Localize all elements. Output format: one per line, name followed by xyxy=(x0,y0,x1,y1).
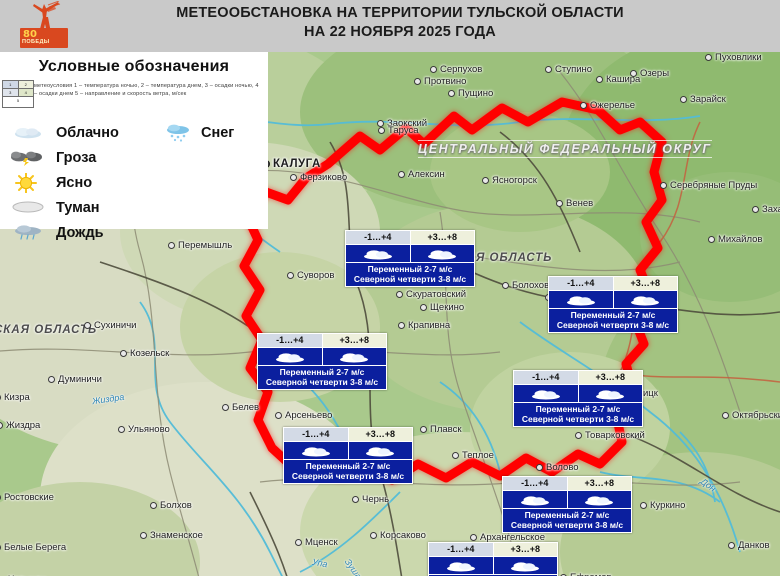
snow-icon xyxy=(163,123,197,143)
city-label: Думиничи xyxy=(48,374,102,385)
city-label: Данков xyxy=(728,540,770,551)
city-label: Волово xyxy=(536,462,579,473)
city-label: Сухиничи xyxy=(84,320,136,331)
city-marker-icon xyxy=(556,200,563,207)
city-marker-icon xyxy=(596,76,603,83)
wind-line-1: Переменный 2-7 м/с xyxy=(258,367,386,377)
federal-okrug-label: ЦЕНТРАЛЬНЫЙ ФЕДЕРАЛЬНЫЙ ОКРУГ xyxy=(418,140,712,158)
cloudy-icon xyxy=(626,293,664,306)
city-name: Венев xyxy=(566,198,593,209)
city-marker-icon xyxy=(295,539,302,546)
cloudy-icon xyxy=(335,350,373,363)
day-temperature: +3…+8 xyxy=(614,277,678,290)
oblast-label-kaluga: СКАЯ ОБЛАСТЬ xyxy=(0,324,97,336)
city-marker-icon xyxy=(752,206,759,213)
temperature-row: -1…+4+3…+8 xyxy=(549,277,677,290)
legend-mini-table: 1 2 3 4 5 xyxy=(2,80,34,108)
wind-line-2: Северной четверти 3-8 м/с xyxy=(503,520,631,530)
wind-info: Переменный 2-7 м/сСеверной четверти 3-8 … xyxy=(503,509,631,532)
city-marker-icon xyxy=(414,78,421,85)
city-marker-icon xyxy=(0,544,1,551)
city-label: Пуховлики xyxy=(705,52,762,63)
city-label: Крапивна xyxy=(398,320,450,331)
temperature-row: -1…+4+3…+8 xyxy=(429,543,557,556)
precipitation-row xyxy=(284,441,412,460)
city-name: Скуратовский xyxy=(406,289,466,300)
city-label: КАЛУГА xyxy=(262,158,321,170)
cloudy-icon xyxy=(527,387,565,400)
mini-cell-5: 5 xyxy=(3,97,33,104)
wind-line-2: Северной четверти 3-8 м/с xyxy=(284,471,412,481)
city-marker-icon xyxy=(708,236,715,243)
night-temperature: -1…+4 xyxy=(284,428,349,441)
legend-title: Условные обозначения xyxy=(0,58,268,76)
city-name: Серпухов xyxy=(440,64,482,75)
cloudy-icon xyxy=(271,350,309,363)
city-marker-icon xyxy=(680,96,687,103)
city-label: Таруса xyxy=(378,125,419,136)
page-title: МЕТЕООБСТАНОВКА НА ТЕРРИТОРИИ ТУЛЬСКОЙ О… xyxy=(120,4,680,42)
city-name: Ульяново xyxy=(128,424,170,435)
city-name: Корсаково xyxy=(380,530,426,541)
city-name: Белые Берега xyxy=(4,542,66,553)
thunderstorm-icon xyxy=(8,148,52,168)
city-marker-icon xyxy=(420,426,427,433)
night-precipitation-cell xyxy=(549,291,613,308)
wind-info: Переменный 2-7 м/сСеверной четверти 3-8 … xyxy=(284,460,412,483)
city-name: Данков xyxy=(738,540,770,551)
city-marker-icon xyxy=(630,70,637,77)
city-marker-icon xyxy=(482,177,489,184)
cloudy-icon xyxy=(442,559,480,572)
city-marker-icon xyxy=(398,322,405,329)
page-header: 80 ПОБЕДЫ МЕТЕООБСТАНОВКА НА ТЕРРИТОРИИ … xyxy=(0,0,780,52)
day-temperature: +3…+8 xyxy=(494,543,558,556)
city-name: Плавск xyxy=(430,424,462,435)
city-name: Пуховлики xyxy=(715,52,762,63)
page-title-line2: НА 22 НОЯБРЯ 2025 ГОДА xyxy=(120,23,680,42)
temperature-row: -1…+4+3…+8 xyxy=(284,428,412,441)
city-marker-icon xyxy=(84,322,91,329)
city-name: Озеры xyxy=(640,68,669,79)
wind-info: Переменный 2-7 м/сСеверной четверти 3-8 … xyxy=(549,309,677,332)
mini-cell-2: 2 xyxy=(19,81,34,89)
wind-info: Переменный 2-7 м/сСеверной четверти 3-8 … xyxy=(346,263,474,286)
legend-item-sunny: Ясно xyxy=(8,172,92,194)
cloudy-icon xyxy=(580,493,618,506)
city-name: Кизра xyxy=(4,392,30,403)
city-label: Захарово xyxy=(752,204,780,215)
legend-item-fog: Туман xyxy=(8,197,100,219)
day-precipitation-cell xyxy=(567,491,632,508)
city-marker-icon xyxy=(370,532,377,539)
page-title-line1: МЕТЕООБСТАНОВКА НА ТЕРРИТОРИИ ТУЛЬСКОЙ О… xyxy=(176,5,624,21)
day-temperature: +3…+8 xyxy=(568,477,632,490)
city-name: Товарковский xyxy=(585,430,645,441)
city-marker-icon xyxy=(222,404,229,411)
legend-item-thunderstorm: Гроза xyxy=(8,147,96,169)
day-temperature: +3…+8 xyxy=(323,334,387,347)
night-temperature: -1…+4 xyxy=(514,371,579,384)
city-label: Перемышль xyxy=(168,240,232,251)
wind-line-2: Северной четверти 3-8 м/с xyxy=(514,414,642,424)
city-name: Козельск xyxy=(130,348,169,359)
wind-line-1: Переменный 2-7 м/с xyxy=(503,510,631,520)
city-label: Озеры xyxy=(630,68,669,79)
city-label: Зарайск xyxy=(680,94,726,105)
precipitation-row xyxy=(429,556,557,575)
city-marker-icon xyxy=(378,127,385,134)
city-name: Чернь xyxy=(362,494,389,505)
city-marker-icon xyxy=(0,394,1,401)
city-label: Октябрьский xyxy=(722,410,780,421)
city-marker-icon xyxy=(396,291,403,298)
cloudy-icon xyxy=(562,293,600,306)
precipitation-row xyxy=(258,347,386,366)
day-precipitation-cell xyxy=(322,348,387,365)
precipitation-row xyxy=(514,384,642,403)
legend-label-cloudy: Облачно xyxy=(56,125,119,141)
city-name: Мценск xyxy=(305,537,338,548)
victory-anniversary-logo: 80 ПОБЕДЫ xyxy=(16,1,76,51)
city-name: Протвино xyxy=(424,76,466,87)
wind-line-1: Переменный 2-7 м/с xyxy=(514,404,642,414)
mini-cell-1: 1 xyxy=(3,81,19,89)
city-label: Ефремов xyxy=(560,572,612,576)
city-label: Михайлов xyxy=(708,234,762,245)
weather-box[interactable]: -1…+4+3…+8Переменный 2-7 м/сСеверной чет… xyxy=(513,370,643,427)
legend-item-cloudy: Облачно xyxy=(8,122,119,144)
cloudy-icon xyxy=(8,123,52,143)
city-label: Кизра xyxy=(0,392,30,403)
night-temperature: -1…+4 xyxy=(503,477,568,490)
night-precipitation-cell xyxy=(284,442,348,459)
city-name: Михайлов xyxy=(718,234,762,245)
temperature-row: -1…+4+3…+8 xyxy=(346,231,474,244)
city-marker-icon xyxy=(705,54,712,61)
day-temperature: +3…+8 xyxy=(349,428,413,441)
wind-line-1: Переменный 2-7 м/с xyxy=(346,264,474,274)
legend-label-thunderstorm: Гроза xyxy=(56,150,96,166)
night-precipitation-cell xyxy=(503,491,567,508)
wind-line-2: Северной четверти 3-8 м/с xyxy=(258,377,386,387)
city-name: Пущино xyxy=(458,88,493,99)
city-name: Перемышль xyxy=(178,240,232,251)
legend-label-rain: Дождь xyxy=(56,225,104,241)
city-label: Товарковский xyxy=(575,430,645,441)
city-label: Ростовские xyxy=(0,492,54,503)
city-marker-icon xyxy=(120,350,127,357)
city-label: Ферзиково xyxy=(290,172,347,183)
weather-box[interactable]: -1…+4+3…+8Переменный 2-7 м/сСеверной чет… xyxy=(548,276,678,333)
city-label: Болхов xyxy=(150,500,192,511)
cloudy-icon xyxy=(297,444,335,457)
city-marker-icon xyxy=(420,304,427,311)
precipitation-row xyxy=(346,244,474,263)
city-label: Арсеньево xyxy=(275,410,332,421)
precipitation-row xyxy=(503,490,631,509)
city-label: Ожерелье xyxy=(580,100,635,111)
city-name: Зарайск xyxy=(690,94,726,105)
weather-box[interactable]: -1…+4+3…+8Переменный 2-7 м/сСеверной чет… xyxy=(345,230,475,287)
city-marker-icon xyxy=(0,422,3,429)
mini-cell-3: 3 xyxy=(3,89,19,97)
city-marker-icon xyxy=(168,242,175,249)
city-label: Алексин xyxy=(398,169,445,180)
city-marker-icon xyxy=(545,66,552,73)
wind-line-1: Переменный 2-7 м/с xyxy=(284,461,412,471)
precipitation-row xyxy=(549,290,677,309)
temperature-row: -1…+4+3…+8 xyxy=(258,334,386,347)
city-name: Захарово xyxy=(762,204,780,215)
city-label: Козельск xyxy=(120,348,169,359)
cloudy-icon xyxy=(423,247,461,260)
legend-item-rain: Дождь xyxy=(8,222,104,244)
city-name: Ступино xyxy=(555,64,592,75)
city-label: Ступино xyxy=(545,64,592,75)
temperature-row: -1…+4+3…+8 xyxy=(514,371,642,384)
wind-line-1: Переменный 2-7 м/с xyxy=(549,310,677,320)
city-label: Венев xyxy=(556,198,593,209)
wind-info: Переменный 2-7 м/сСеверной четверти 3-8 … xyxy=(258,366,386,389)
day-precipitation-cell xyxy=(578,385,643,402)
night-temperature: -1…+4 xyxy=(346,231,411,244)
rain-icon xyxy=(8,223,52,243)
night-precipitation-cell xyxy=(429,557,493,574)
legend-item-snow: Снег xyxy=(163,122,234,144)
wind-line-2: Северной четверти 3-8 м/с xyxy=(346,274,474,284)
day-precipitation-cell xyxy=(493,557,558,574)
city-name: Алексин xyxy=(408,169,445,180)
city-marker-icon xyxy=(290,174,297,181)
city-label: Плавск xyxy=(420,424,462,435)
wind-info: Переменный 2-7 м/сСеверной четверти 3-8 … xyxy=(514,403,642,426)
weather-box[interactable]: -1…+4+3…+8Переменный 2-7 м/сСеверной чет… xyxy=(283,427,413,484)
city-label: Чернь xyxy=(352,494,389,505)
day-temperature: +3…+8 xyxy=(411,231,475,244)
city-name: Суворов xyxy=(297,270,334,281)
legend-note: метеоусловия 1 – температура ночью, 2 – … xyxy=(34,82,262,98)
city-label: Жиздра xyxy=(0,420,40,431)
cloudy-icon xyxy=(516,493,554,506)
legend-label-sunny: Ясно xyxy=(56,175,92,191)
city-marker-icon xyxy=(470,534,477,541)
city-name: Теплое xyxy=(462,450,494,461)
night-temperature: -1…+4 xyxy=(429,543,494,556)
cloudy-icon xyxy=(506,559,544,572)
city-label: Белев xyxy=(222,402,259,413)
mini-cell-4: 4 xyxy=(19,89,34,97)
night-temperature: -1…+4 xyxy=(549,277,614,290)
cloudy-icon xyxy=(359,247,397,260)
fog-icon xyxy=(8,198,52,218)
city-marker-icon xyxy=(118,426,125,433)
temperature-row: -1…+4+3…+8 xyxy=(503,477,631,490)
city-name: Серебряные Пруды xyxy=(670,180,757,191)
city-label: Серпухов xyxy=(430,64,482,75)
city-name: Ефремов xyxy=(570,572,612,576)
city-label: Корсаково xyxy=(370,530,426,541)
city-name: Октябрьский xyxy=(732,410,780,421)
wind-line-2: Северной четверти 3-8 м/с xyxy=(549,320,677,330)
city-marker-icon xyxy=(352,496,359,503)
city-label: Серебряные Пруды xyxy=(660,180,757,191)
city-label: Щекино xyxy=(420,302,464,313)
city-marker-icon xyxy=(448,90,455,97)
weather-box[interactable]: -1…+4+3…+8Переменный 2-7 м/сСеверной чет… xyxy=(257,333,387,390)
city-name: Крапивна xyxy=(408,320,450,331)
city-label: Болохово xyxy=(502,280,554,291)
city-marker-icon xyxy=(140,532,147,539)
city-name: Ферзиково xyxy=(300,172,347,183)
city-label: Пущино xyxy=(448,88,493,99)
legend-panel: Условные обозначения 1 2 3 4 5 метеоусло… xyxy=(0,52,268,229)
city-label: Ульяново xyxy=(118,424,170,435)
city-label: Белые Берега xyxy=(0,542,66,553)
city-label: Мценск xyxy=(295,537,338,548)
city-marker-icon xyxy=(640,502,647,509)
city-name: Белев xyxy=(232,402,259,413)
sunny-icon xyxy=(8,173,52,193)
weather-box[interactable]: -1…+4+3…+8Переменный 2-7 м/сСеверной чет… xyxy=(428,542,558,576)
city-marker-icon xyxy=(398,171,405,178)
legend-label-fog: Туман xyxy=(56,200,100,216)
weather-box[interactable]: -1…+4+3…+8Переменный 2-7 м/сСеверной чет… xyxy=(502,476,632,533)
city-marker-icon xyxy=(502,282,509,289)
city-label: Ясногорск xyxy=(482,175,537,186)
day-precipitation-cell xyxy=(348,442,413,459)
legend-label-snow: Снег xyxy=(201,125,234,141)
day-temperature: +3…+8 xyxy=(579,371,643,384)
logo-caption: ПОБЕДЫ xyxy=(22,39,50,45)
city-marker-icon xyxy=(275,412,282,419)
city-label: Скуратовский xyxy=(396,289,466,300)
city-marker-icon xyxy=(0,494,1,501)
city-marker-icon xyxy=(728,542,735,549)
city-marker-icon xyxy=(430,66,437,73)
city-marker-icon xyxy=(536,464,543,471)
night-temperature: -1…+4 xyxy=(258,334,323,347)
city-marker-icon xyxy=(287,272,294,279)
city-name: Ясногорск xyxy=(492,175,537,186)
day-precipitation-cell xyxy=(410,245,475,262)
night-precipitation-cell xyxy=(346,245,410,262)
city-name: Думиничи xyxy=(58,374,102,385)
city-name: Знаменское xyxy=(150,530,203,541)
city-name: Куркино xyxy=(650,500,685,511)
cloudy-icon xyxy=(591,387,629,400)
city-marker-icon xyxy=(722,412,729,419)
city-marker-icon xyxy=(452,452,459,459)
city-marker-icon xyxy=(660,182,667,189)
logo-badge: 80 ПОБЕДЫ xyxy=(20,28,68,48)
city-name: Ростовские xyxy=(4,492,54,503)
city-label: Протвино xyxy=(414,76,466,87)
city-marker-icon xyxy=(580,102,587,109)
city-name: Ожерелье xyxy=(590,100,635,111)
city-name: Болхов xyxy=(160,500,192,511)
city-label: Знаменское xyxy=(140,530,203,541)
city-name: Щекино xyxy=(430,302,464,313)
city-name: Арсеньево xyxy=(285,410,332,421)
night-precipitation-cell xyxy=(258,348,322,365)
cloudy-icon xyxy=(361,444,399,457)
city-name: Волово xyxy=(546,462,579,473)
city-label: Суворов xyxy=(287,270,334,281)
city-marker-icon xyxy=(48,376,55,383)
city-marker-icon xyxy=(150,502,157,509)
day-precipitation-cell xyxy=(613,291,678,308)
city-label: Куркино xyxy=(640,500,685,511)
city-name: Жиздра xyxy=(6,420,40,431)
city-name: Таруса xyxy=(388,125,419,136)
night-precipitation-cell xyxy=(514,385,578,402)
city-label: Теплое xyxy=(452,450,494,461)
city-marker-icon xyxy=(575,432,582,439)
city-name: Сухиничи xyxy=(94,320,136,331)
city-name: КАЛУГА xyxy=(273,158,321,170)
